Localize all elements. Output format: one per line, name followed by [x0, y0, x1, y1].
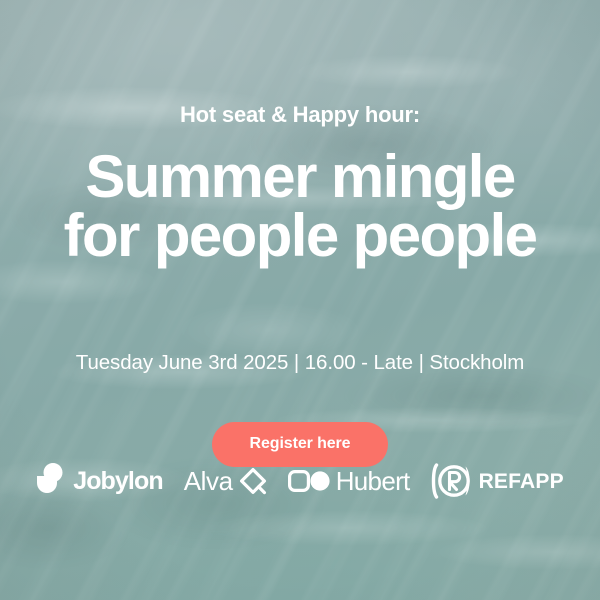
poster-content: Hot seat & Happy hour: Summer mingle for…	[0, 0, 600, 600]
event-poster: Hot seat & Happy hour: Summer mingle for…	[0, 0, 600, 600]
page-title: Summer mingle for people people	[64, 147, 537, 266]
event-kicker: Hot seat & Happy hour:	[180, 104, 420, 126]
event-details: Tuesday June 3rd 2025 | 16.00 - Late | S…	[76, 351, 524, 375]
cta-container: Register here	[212, 422, 389, 467]
headline-line-1: Summer mingle	[85, 143, 514, 210]
headline-line-2: for people people	[64, 206, 537, 265]
register-button[interactable]: Register here	[212, 422, 389, 467]
